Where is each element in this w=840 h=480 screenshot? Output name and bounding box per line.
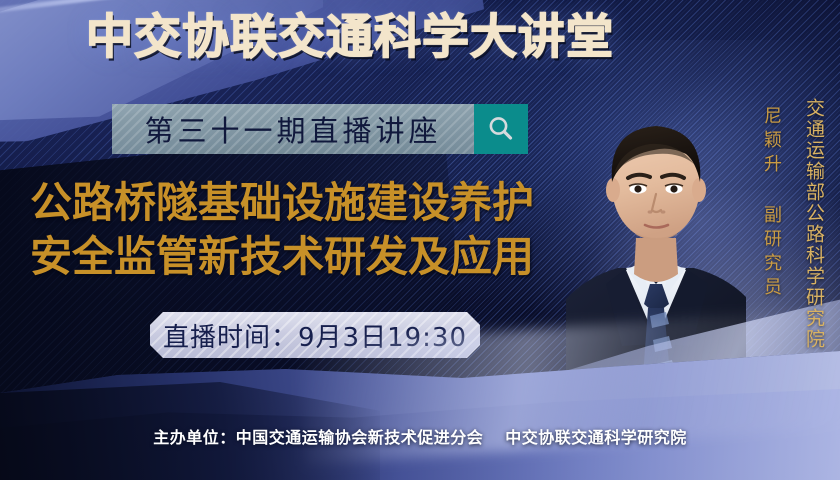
speaker-organization: 交通运输部公路科学研究院 (801, 98, 828, 350)
lecture-headline: 公路桥隧基础设施建设养护 安全监管新技术研发及应用 (30, 176, 590, 284)
footer-organizers: 主办单位：中国交通运输协会新技术促进分会中交协联交通科学研究院 (0, 424, 840, 448)
footer-organizer-label: 主办单位：中国交通运输协会新技术促进分会 (153, 428, 483, 447)
lecture-headline-line-2: 安全监管新技术研发及应用 (30, 230, 590, 284)
live-lecture-poster: 中交协联交通科学大讲堂 第三十一期直播讲座 公路桥隧基础设施建设养护 安全监管新… (0, 0, 840, 480)
lecture-headline-line-1: 公路桥隧基础设施建设养护 (30, 176, 590, 230)
session-banner: 第三十一期直播讲座 (112, 104, 528, 154)
session-banner-label: 第三十一期直播讲座 (144, 108, 441, 150)
search-icon (474, 104, 528, 154)
footer-co-organizer: 中交协联交通科学研究院 (505, 428, 687, 447)
page-title: 中交协联交通科学大讲堂 (0, 14, 700, 61)
session-banner-body: 第三十一期直播讲座 (112, 104, 474, 154)
speaker-name-title: 尼颖升 副研究员 (758, 106, 784, 301)
